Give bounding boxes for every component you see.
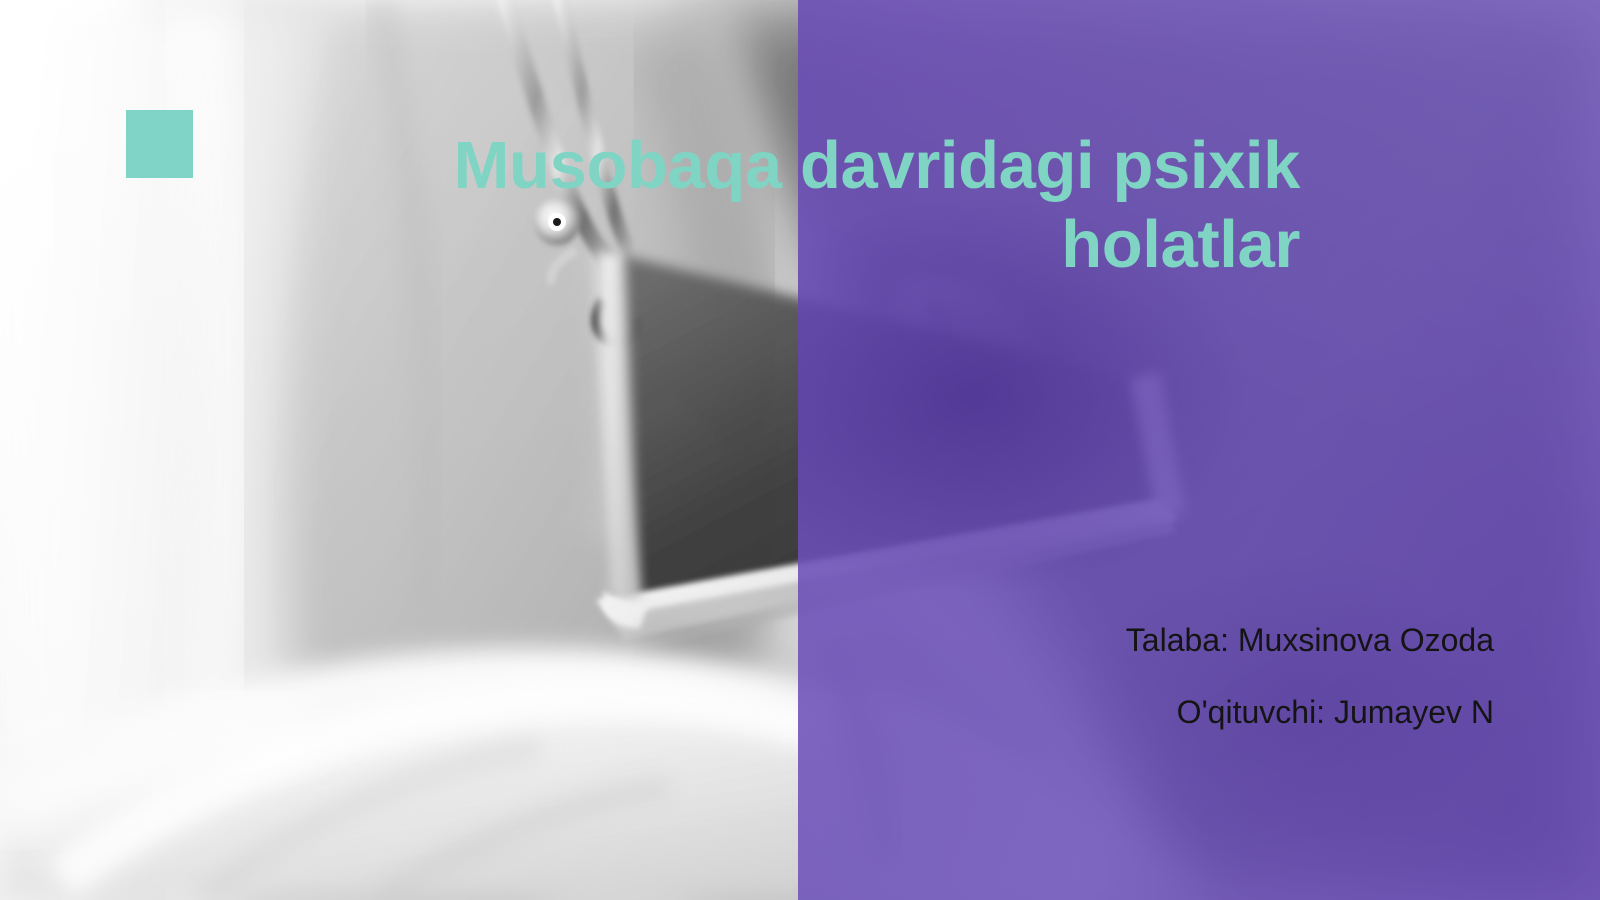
student-credit: Talaba: Muxsinova Ozoda: [900, 624, 1494, 656]
slide-title: Musobaqa davridagi psixik holatlar: [420, 126, 1300, 284]
teal-accent-square: [126, 110, 193, 178]
teacher-credit: O'qituvchi: Jumayev N: [900, 696, 1494, 728]
presentation-slide: Musobaqa davridagi psixik holatlar Talab…: [0, 0, 1600, 900]
credits-block: Talaba: Muxsinova Ozoda O'qituvchi: Juma…: [900, 624, 1494, 728]
